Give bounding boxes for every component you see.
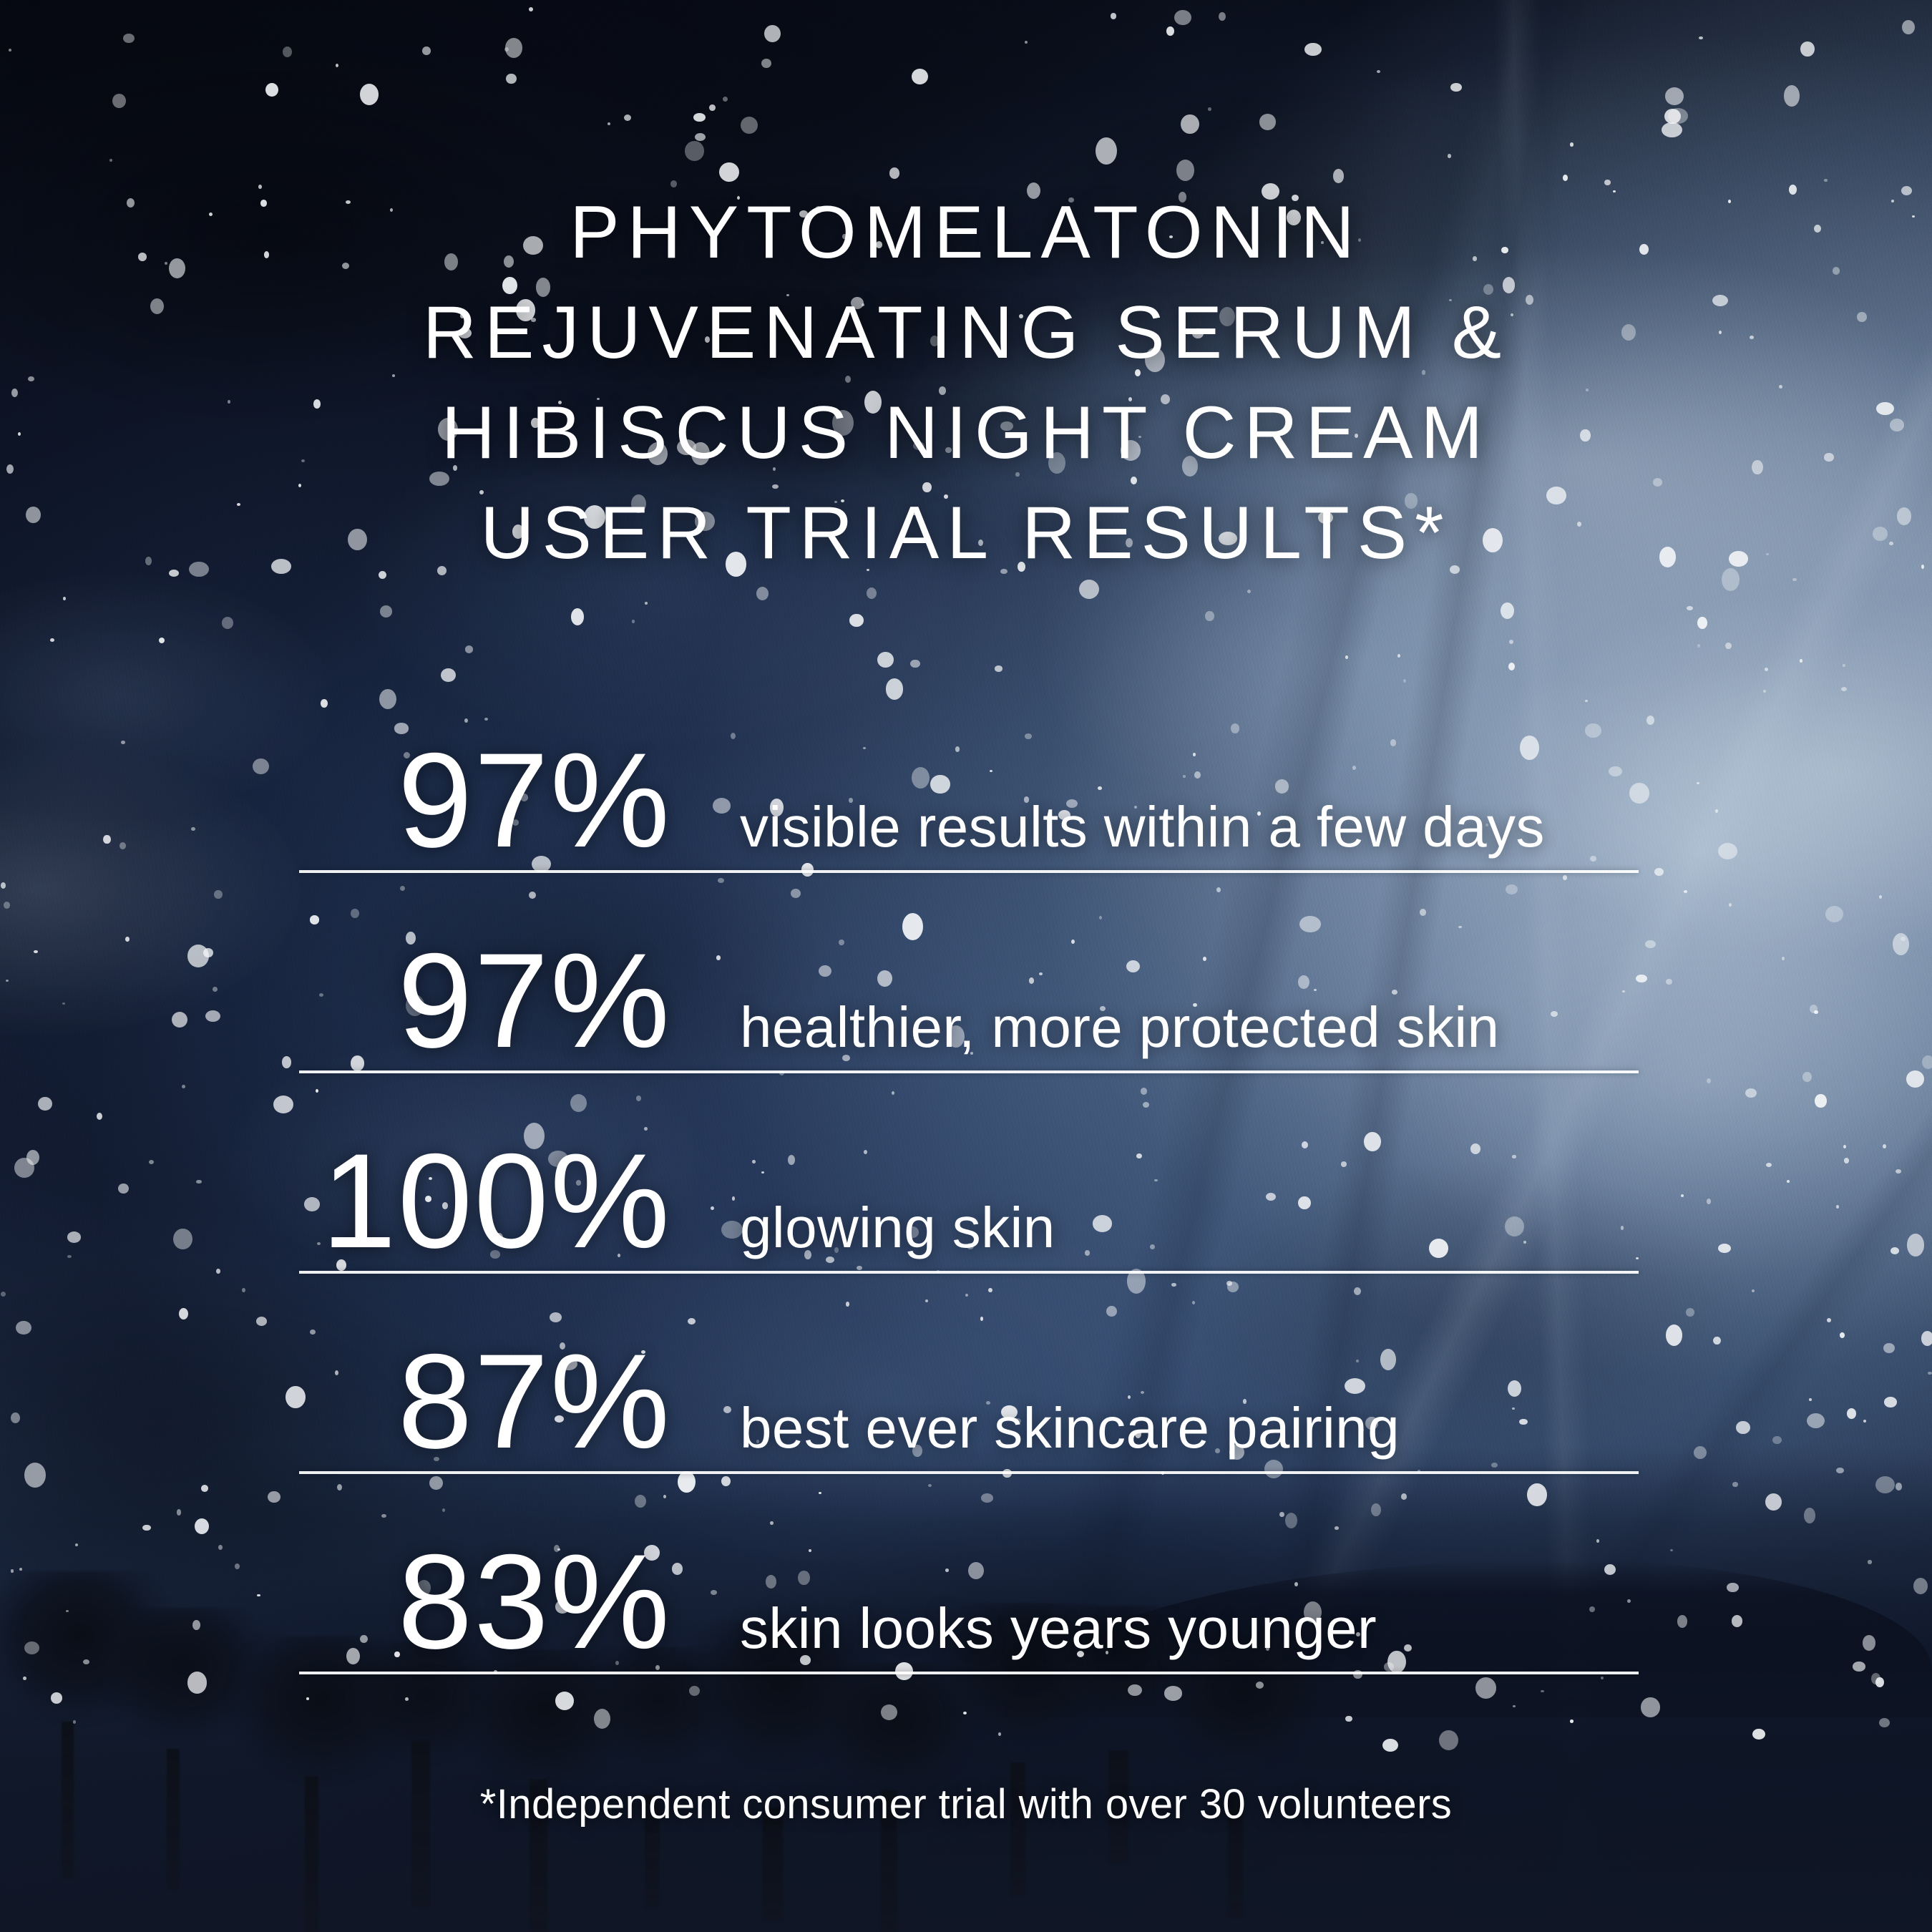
table-row: 83% skin looks years younger [299,1474,1639,1674]
stat-label: best ever skincare pairing [671,1340,1639,1457]
stat-value: 100% [299,1073,671,1268]
stat-value: 97% [299,873,671,1068]
poster-canvas: PHYTOMELATONIN REJUVENATING SERUM & HIBI… [0,0,1932,1932]
stat-value: 83% [299,1474,671,1669]
page-title: PHYTOMELATONIN REJUVENATING SERUM & HIBI… [0,182,1932,583]
table-row: 97% visible results within a few days [299,673,1639,873]
title-line-2: REJUVENATING SERUM & [0,283,1932,383]
table-row: 97% healthier, more protected skin [299,873,1639,1073]
stat-label: skin looks years younger [671,1540,1639,1657]
stat-label: visible results within a few days [671,738,1639,856]
stat-value: 97% [299,673,671,867]
results-table: 97% visible results within a few days 97… [299,673,1639,1674]
stat-label: glowing skin [671,1139,1639,1257]
title-line-1: PHYTOMELATONIN [0,182,1932,283]
title-line-4: USER TRIAL RESULTS* [0,483,1932,583]
stat-label: healthier, more protected skin [671,939,1639,1056]
row-divider [299,1672,1639,1674]
stat-value: 87% [299,1274,671,1468]
title-line-3: HIBISCUS NIGHT CREAM [0,383,1932,483]
footnote-text: *Independent consumer trial with over 30… [0,1780,1932,1828]
table-row: 87% best ever skincare pairing [299,1274,1639,1474]
table-row: 100% glowing skin [299,1073,1639,1274]
